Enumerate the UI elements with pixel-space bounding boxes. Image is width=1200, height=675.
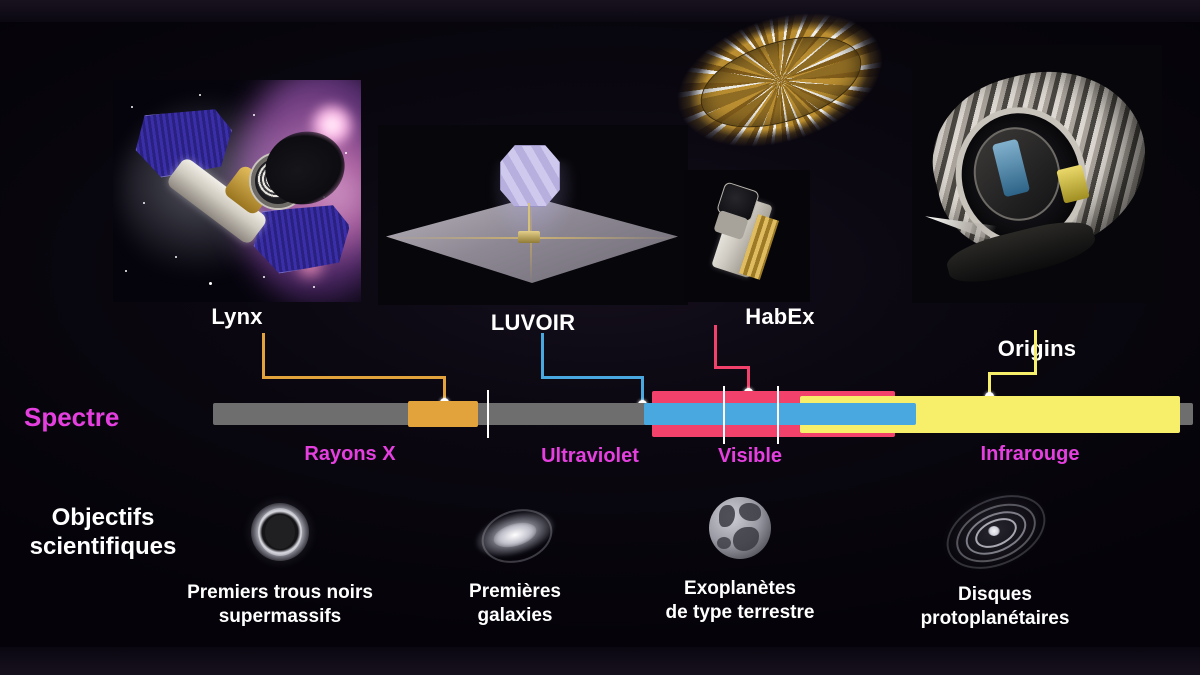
- origins-artwork: [912, 45, 1162, 303]
- luvoir-artwork: [378, 125, 688, 305]
- telescope-card-luvoir[interactable]: LUVOIR: [378, 125, 688, 305]
- telescope-card-habex[interactable]: HabEx: [660, 12, 900, 304]
- objective-galaxies: Premières galaxies: [420, 500, 610, 628]
- background-haze-bottom: [0, 647, 1200, 675]
- region-label-ultraviolet: Ultraviolet: [490, 445, 690, 468]
- region-label-rayons-x: Rayons X: [240, 443, 460, 466]
- divider-uv-visible: [723, 386, 725, 444]
- infographic-root: Lynx LUVOIR H: [0, 0, 1200, 675]
- starshade-artwork: [674, 18, 886, 142]
- region-label-infrarouge: Infrarouge: [880, 443, 1180, 466]
- spectrum-bar: [0, 388, 1200, 448]
- region-label-visible: Visible: [690, 445, 810, 468]
- telescope-label-luvoir: LUVOIR: [378, 310, 688, 336]
- black-hole-icon: [243, 495, 317, 569]
- lynx-artwork: [113, 80, 361, 302]
- exoplanet-icon: [709, 497, 771, 559]
- telescope-card-lynx[interactable]: Lynx: [113, 80, 361, 302]
- telescope-label-origins: Origins: [912, 336, 1162, 362]
- coverage-lynx: [408, 401, 478, 427]
- objective-caption-exoplanets: Exoplanètes de type terrestre: [645, 577, 835, 625]
- objective-exoplanets: Exoplanètes de type terrestre: [645, 497, 835, 625]
- divider-visible-ir: [777, 386, 779, 444]
- galaxy-icon: [467, 500, 563, 564]
- habex-artwork: [684, 170, 810, 302]
- protoplanetary-disk-icon: [940, 493, 1050, 569]
- objective-caption-black-holes: Premiers trous noirs supermassifs: [180, 581, 380, 629]
- primary-mirror: [500, 145, 560, 207]
- objective-black-holes: Premiers trous noirs supermassifs: [180, 495, 380, 629]
- objective-caption-disks: Disques protoplanétaires: [890, 583, 1100, 631]
- objective-caption-galaxies: Premières galaxies: [420, 580, 610, 628]
- spacecraft-bus: [518, 231, 540, 243]
- telescope-label-habex: HabEx: [660, 304, 900, 330]
- divider-xray-uv: [487, 390, 489, 438]
- background-haze: [0, 0, 1200, 22]
- objectives-section-title: Objectifs scientifiques: [8, 503, 198, 562]
- telescope-card-origins[interactable]: Origins: [912, 45, 1162, 303]
- objective-protoplanetary-disks: Disques protoplanétaires: [890, 493, 1100, 631]
- telescope-label-lynx: Lynx: [113, 304, 361, 330]
- coverage-luvoir: [644, 403, 916, 425]
